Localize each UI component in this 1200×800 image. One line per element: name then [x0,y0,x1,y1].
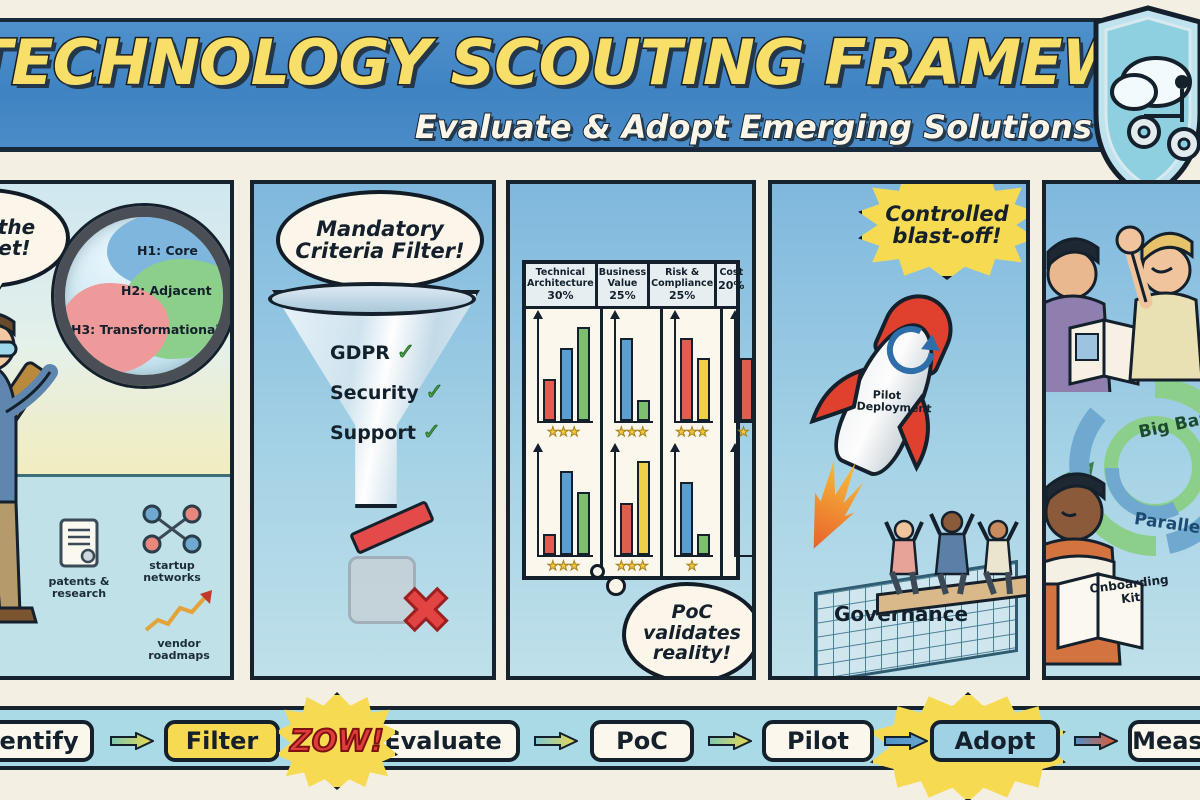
star-rating: ★★★ [606,425,657,440]
scorecard-col-header-0: Technical Architecture 30% [526,264,598,306]
star-rating: ★ [666,559,717,574]
scorecard-header-row: Technical Architecture 30% Business Valu… [526,264,736,309]
scorecard-cell-r0-c3: ★ [723,309,756,443]
panel-pilot[interactable]: Controlled blast-off! Pilot Deployment G… [768,180,1030,680]
check-icon-security: ✓ [425,380,443,405]
criterion-security: Security ✓ [330,380,444,405]
scorecard-column-2: ★★★★ [663,309,723,576]
scorecard-col-name-2: Risk & Compliance [651,267,713,289]
bar-1 [697,534,710,555]
bar-0 [620,338,633,422]
bar-1 [637,400,650,421]
flow-arrow-5 [884,732,928,750]
source-item-patents: patents & research [36,516,122,601]
mini-bar-chart [734,317,756,424]
star-rating: ★★★ [529,559,597,574]
star-rating: ★★★ [666,425,717,440]
scorecard-col-weight-3: 20% [718,280,744,292]
horizon-label-h3: H3: Transformational [71,322,220,337]
scorecard-col-weight-2: 25% [651,290,713,302]
bar-0 [620,503,633,555]
scorecard-col-name-0: Technical Architecture [527,267,594,289]
panel-evaluate[interactable]: Technical Architecture 30% Business Valu… [506,180,756,680]
red-x-icon: ✖ [400,580,452,642]
panel-filter[interactable]: Mandatory Criteria Filter! GDPR ✓ Securi… [250,180,496,680]
criterion-gdpr: GDPR ✓ [330,340,415,365]
flow-arrow-3 [534,732,578,750]
scorecard-cell-r0-c0: ★★★ [526,309,600,443]
star-rating: ★★★ [529,425,597,440]
person-reading-bottom [1042,466,1154,666]
star-rating: ★★★ [606,559,657,574]
panel-identify[interactable]: Scan the market! H1: Core H2: Adjacent H… [0,180,234,680]
bar-0 [543,379,556,421]
mini-bar-chart [614,450,653,557]
blocker-bar [349,500,435,555]
funnel-rim [268,282,476,316]
panel-strip: Scan the market! H1: Core H2: Adjacent H… [0,170,1200,690]
burst-blastoff: Controlled blast-off! [858,180,1030,280]
thought-dot-small [590,564,605,579]
source-label-roadmaps: vendor roadmaps [136,638,222,663]
mini-bar-chart [674,317,713,424]
scorecard-cell-r1-c2: ★ [663,442,720,576]
scorecard-body: ★★★★★★★★★★★★★★★★★ [526,309,736,576]
bar-0 [740,358,753,421]
thought-dot-large [606,576,626,596]
poster-canvas: TECHNOLOGY SCOUTING FRAMEWORK Evaluate &… [0,0,1200,800]
speech-bubble-filter: Mandatory Criteria Filter! [276,190,484,290]
flow-step-identify[interactable]: Identify [0,720,94,762]
panel-adopt[interactable]: Big Bang Parallel [1042,180,1200,680]
scorecard-col-header-1: Business Value 25% [598,264,650,306]
flow-step-pilot[interactable]: Pilot [762,720,874,762]
flow-step-measure[interactable]: Measure [1128,720,1200,762]
person-cheering-top [1110,212,1200,382]
scorecard-col-name-3: Cost [719,267,743,278]
bar-1 [560,348,573,421]
bar-0 [543,534,556,555]
scorecard-column-1: ★★★★★★ [603,309,663,576]
page-title: TECHNOLOGY SCOUTING FRAMEWORK [0,26,1090,99]
horizon-label-h2: H2: Adjacent [121,283,212,298]
source-item-roadmaps: vendor roadmaps [136,588,222,663]
criterion-support: Support ✓ [330,420,441,445]
flow-arrow-6 [1074,732,1118,750]
scorecard-cell-r0-c1: ★★★ [603,309,660,443]
document-icon [55,516,103,572]
scorecard-column-3: ★ [723,309,756,576]
bar-2 [577,327,590,421]
scorecard-col-weight-0: 30% [527,290,594,302]
scorecard-cell-r1-c3 [723,442,756,576]
star-rating: ★ [726,425,756,440]
thought-bubble-poc: PoC validates reality! [622,582,756,680]
source-label-startups: startup networks [130,560,214,585]
network-icon [140,502,204,556]
header-banner: TECHNOLOGY SCOUTING FRAMEWORK Evaluate &… [0,18,1110,152]
source-label-patents: patents & research [36,576,122,601]
rocket-icon: Pilot Deployment [790,279,985,520]
bar-1 [560,471,573,555]
scorecard-cell-r1-c0: ★★★ [526,442,600,576]
scorecard-cell-r0-c2: ★★★ [663,309,720,443]
rocket-label: Pilot Deployment [856,389,917,415]
magnifier-icon: H1: Core H2: Adjacent H3: Transformation… [54,206,234,386]
flow-step-adopt[interactable]: Adopt [930,720,1060,762]
process-flow-bar: Identify Filter Evaluate PoC Pilot Adopt [0,706,1200,770]
scorecard-col-header-3: Cost 20% [717,264,745,306]
bar-0 [680,482,693,555]
scorecard-column-0: ★★★★★★ [526,309,603,576]
mini-bar-chart [734,450,756,557]
evaluation-scorecard: Technical Architecture 30% Business Valu… [522,260,740,580]
mini-bar-chart [614,317,653,424]
page-subtitle: Evaluate & Adopt Emerging Solutions [415,108,1092,146]
horizon-label-h1: H1: Core [137,243,198,258]
source-item-startups: startup networks [130,502,214,585]
bar-0 [680,338,693,422]
trend-chart-icon [142,588,216,634]
bar-1 [637,461,650,555]
bar-2 [577,492,590,555]
mini-bar-chart [674,450,713,557]
flow-arrow-1 [110,732,154,750]
bar-1 [697,358,710,421]
criterion-label-security: Security [330,382,419,404]
cheering-team-icon [880,500,1030,596]
scorecard-col-weight-1: 25% [599,290,646,302]
mini-bar-chart [537,450,593,557]
criterion-label-gdpr: GDPR [330,342,390,364]
flow-arrow-4 [708,732,752,750]
flow-step-poc[interactable]: PoC [590,720,694,762]
mini-bar-chart [537,317,593,424]
criterion-label-support: Support [330,422,416,444]
flow-step-filter[interactable]: Filter [164,720,280,762]
check-icon-gdpr: ✓ [397,340,415,365]
scorecard-col-header-2: Risk & Compliance 25% [650,264,717,306]
scorecard-col-name-1: Business Value [599,267,646,289]
star-rating [726,559,756,574]
check-icon-support: ✓ [423,420,441,445]
scorecard-cell-r1-c1: ★★★ [603,442,660,576]
